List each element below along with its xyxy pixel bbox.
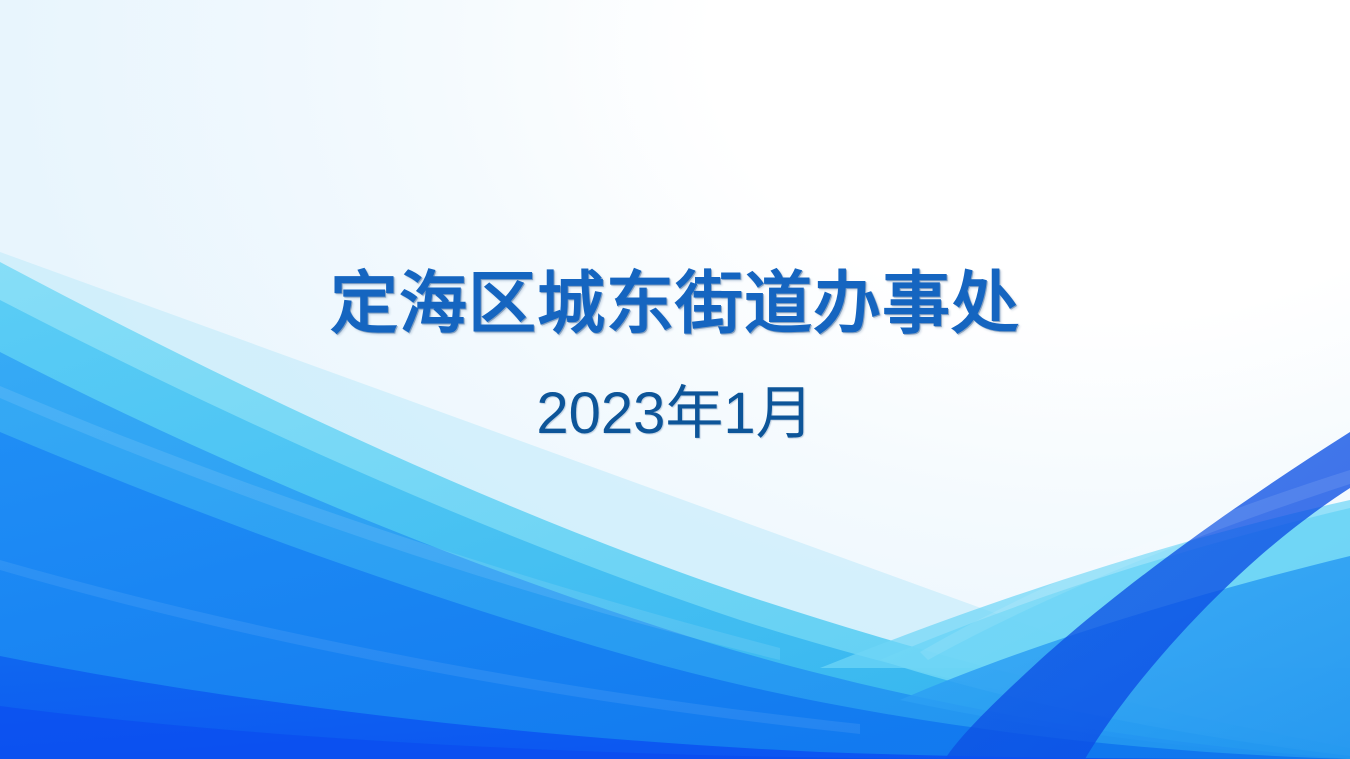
slide-title: 定海区城东街道办事处 <box>0 268 1350 341</box>
title-text-group: 定海区城东街道办事处 2023年1月 <box>0 268 1350 446</box>
title-slide: 定海区城东街道办事处 2023年1月 <box>0 0 1350 759</box>
slide-subtitle: 2023年1月 <box>0 341 1350 446</box>
